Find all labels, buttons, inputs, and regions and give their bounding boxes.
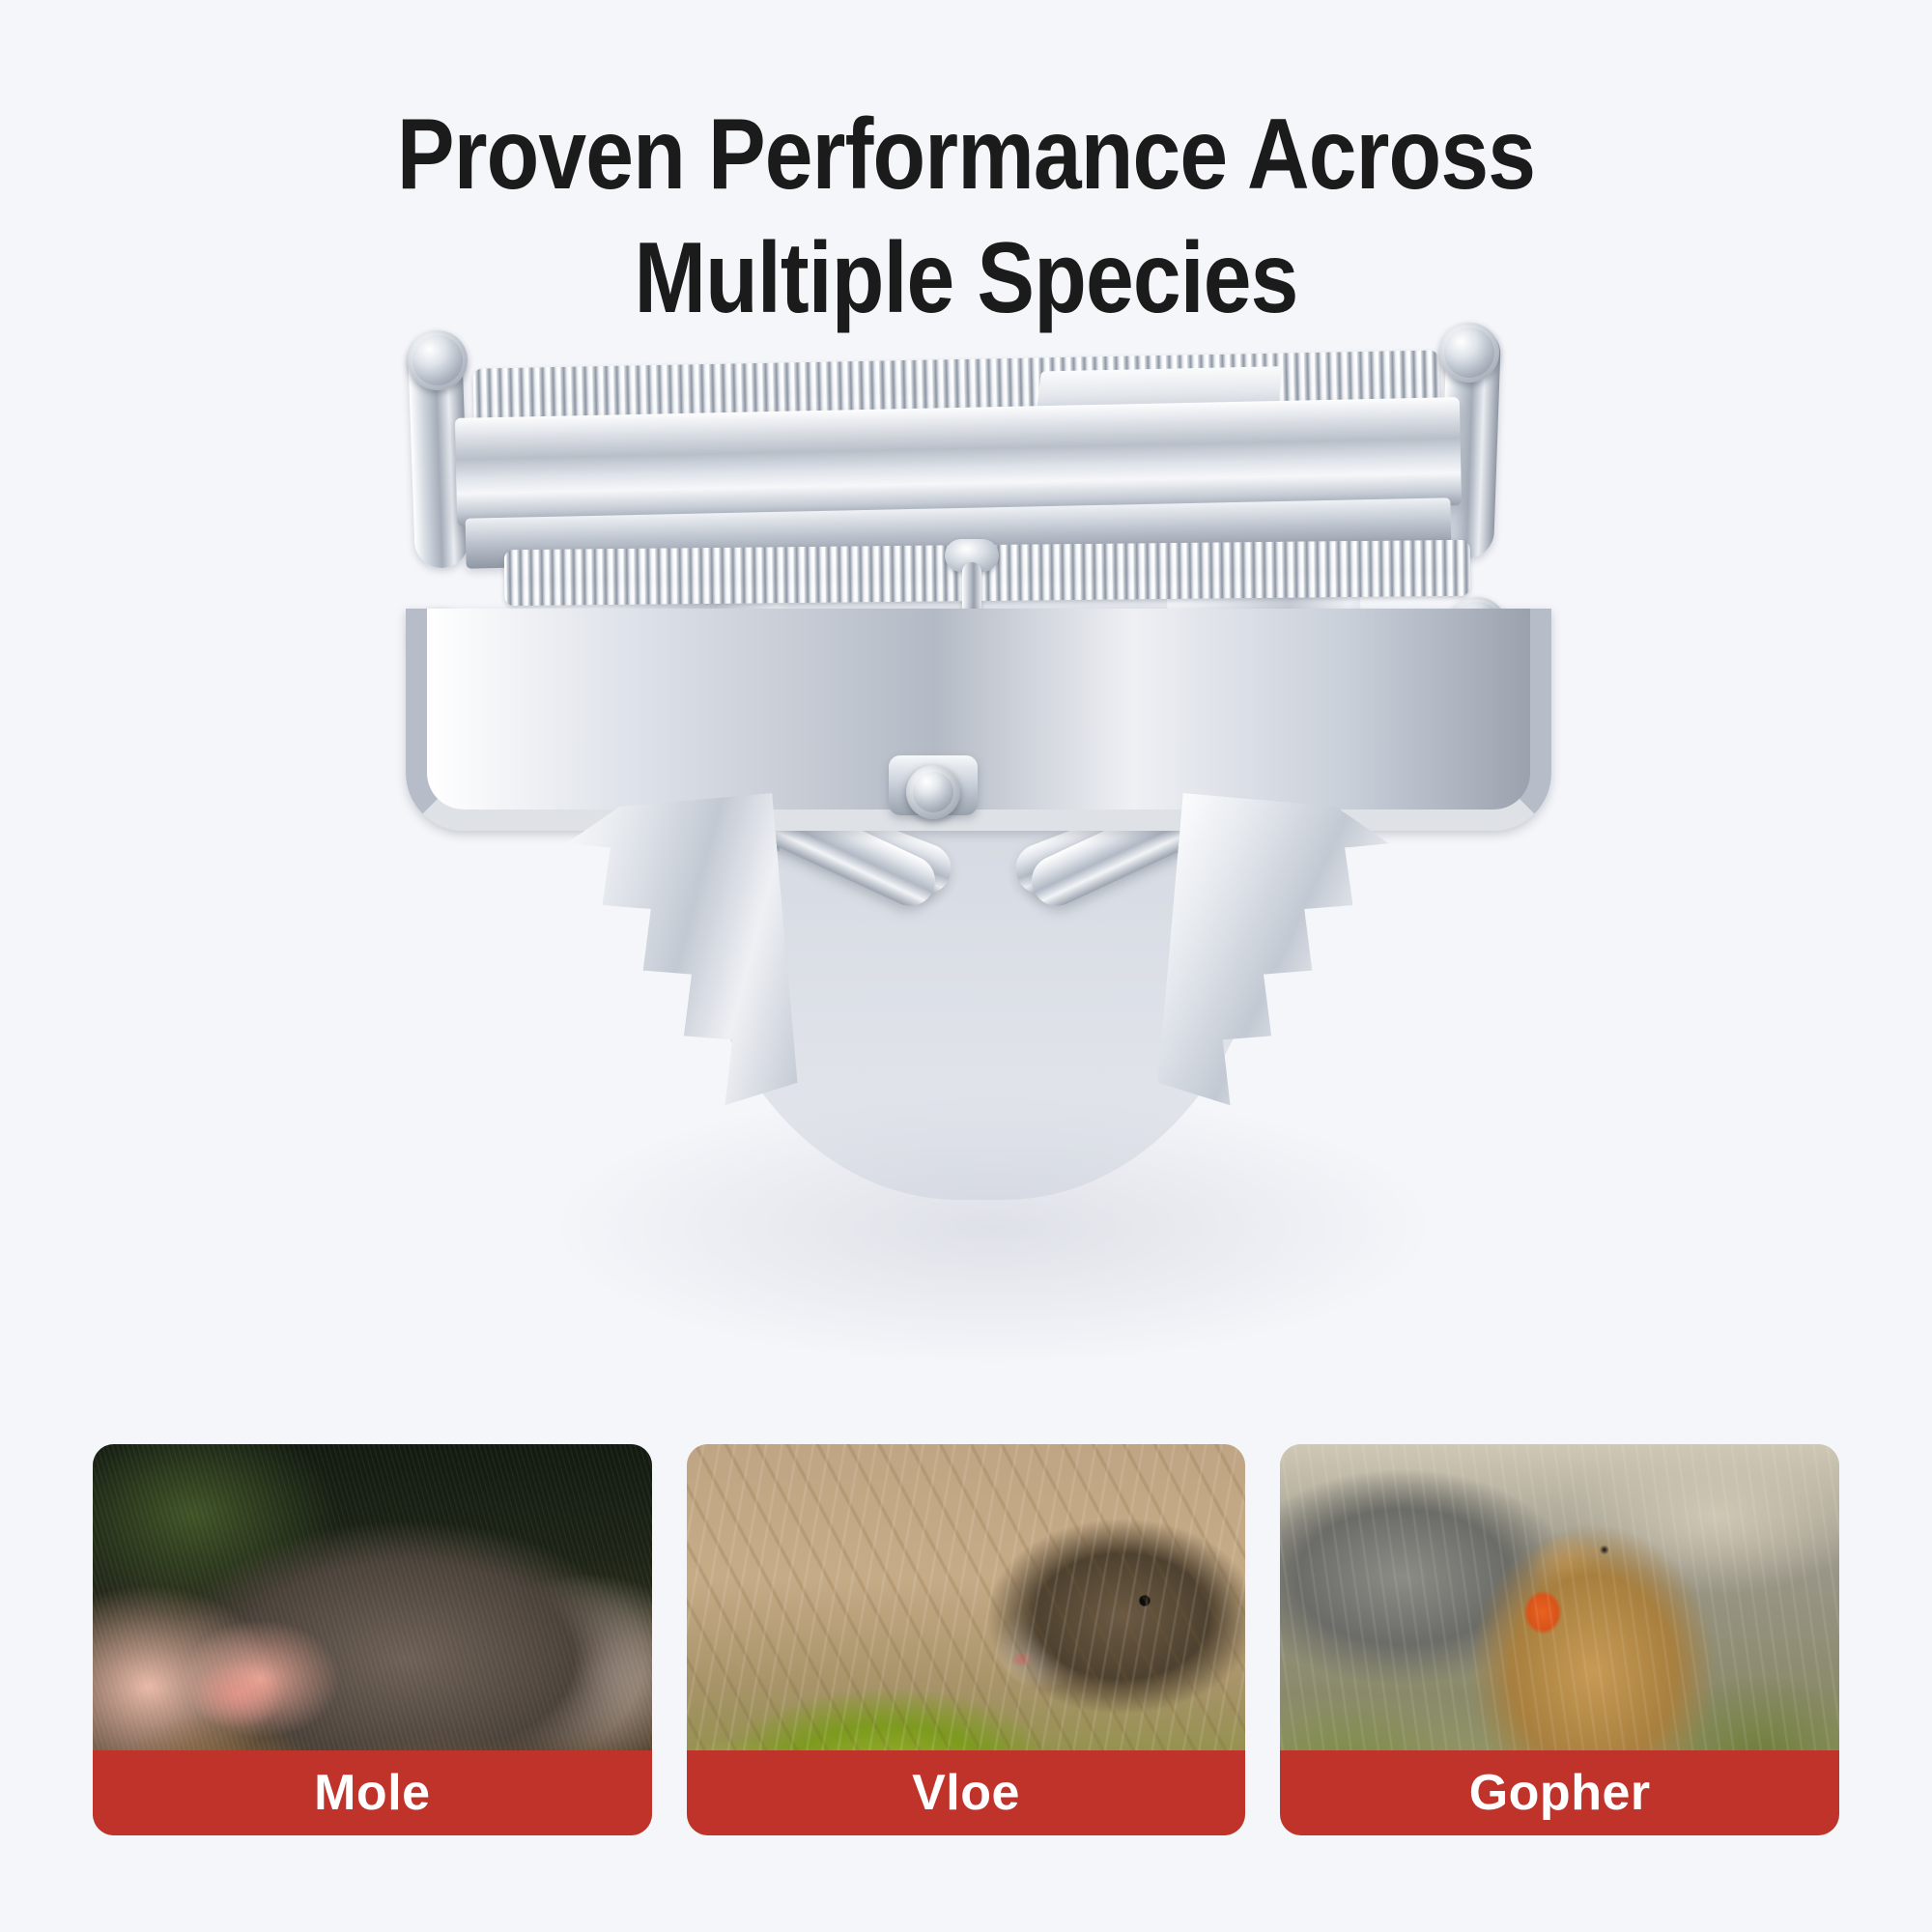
page-title-line-1: Proven Performance Across [397,99,1535,211]
trap-serrated-jaw-lower-left [554,793,808,1214]
species-card-mole[interactable]: Mole [93,1444,652,1835]
trap-pivot-boss-top-right [1439,323,1499,383]
species-card-label: Vloe [687,1750,1246,1835]
species-card-vole[interactable]: Vloe [687,1444,1246,1835]
species-card-label: Mole [93,1750,652,1835]
species-card-gopher[interactable]: Gopher [1280,1444,1839,1835]
species-card-label: Gopher [1280,1750,1839,1835]
trap-pivot-boss-top-left [408,330,468,390]
product-stage: • WARNING • The trap is safe and effecti… [0,319,1932,1420]
trap-u-wire-frame [406,609,1551,831]
trap-serrated-jaw-lower-right [1148,793,1401,1214]
mole-trap-product-image: • WARNING • The trap is safe and effecti… [415,319,1546,1410]
page-title: Proven Performance Across Multiple Speci… [135,93,1797,340]
species-card-list: Mole Vloe Gopher [93,1444,1839,1835]
trap-trigger-rivet [906,765,960,819]
